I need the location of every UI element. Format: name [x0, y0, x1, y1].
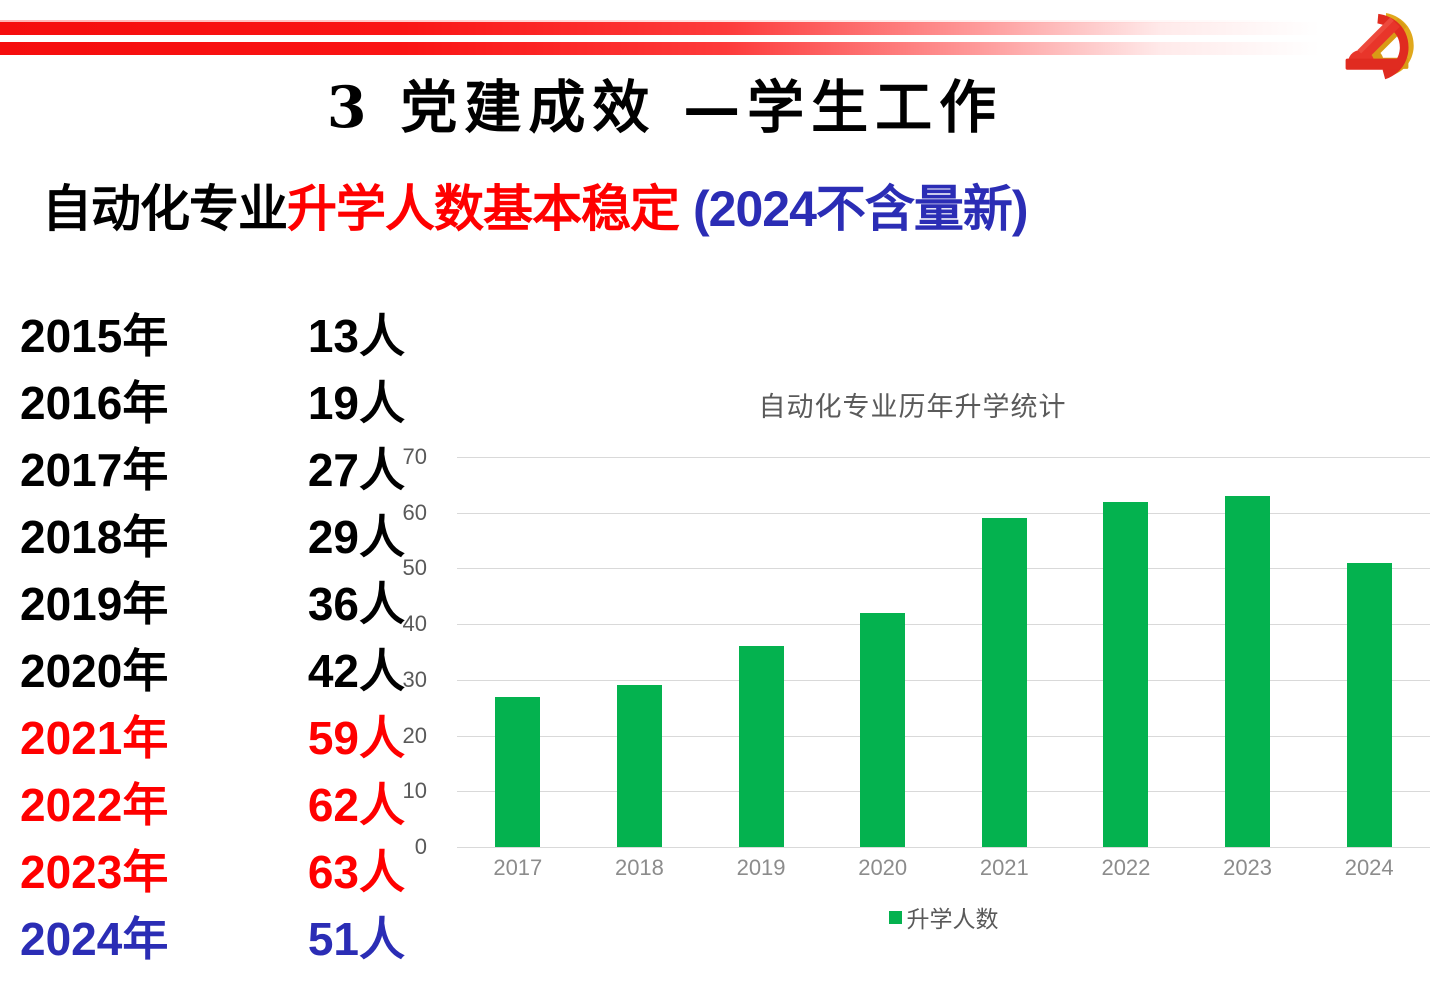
list-item: 2016年19人	[10, 367, 405, 434]
chart-bar[interactable]	[739, 646, 784, 847]
bar-slot	[1308, 457, 1430, 847]
bar-slot	[944, 457, 1066, 847]
y-axis-tick-label: 60	[375, 500, 427, 526]
x-axis-tick-label: 2019	[700, 855, 822, 881]
banner-red-stripe-upper	[0, 22, 1320, 35]
list-item: 2015年13人	[10, 300, 405, 367]
cpc-hammer-sickle-emblem-icon	[1337, 4, 1423, 96]
chart-bar[interactable]	[1347, 563, 1392, 847]
subtitle-segment-note: (2024不含量新)	[693, 181, 1028, 237]
list-item: 2022年62人	[10, 769, 405, 836]
legend-series-label: 升学人数	[907, 900, 999, 934]
chart-bar[interactable]	[860, 613, 905, 847]
list-item-year: 2021年	[10, 702, 247, 768]
x-axis-tick-label: 2020	[822, 855, 944, 881]
list-item: 2018年29人	[10, 501, 405, 568]
chart-bar[interactable]	[1225, 496, 1270, 847]
y-axis-tick-label: 40	[375, 611, 427, 637]
y-axis-tick-label: 20	[375, 723, 427, 749]
list-item: 2019年36人	[10, 568, 405, 635]
yearly-enrollment-list: 2015年13人2016年19人2017年27人2018年29人2019年36人…	[10, 300, 405, 970]
bar-slot	[700, 457, 822, 847]
list-item: 2020年42人	[10, 635, 405, 702]
chart-x-axis: 20172018201920202021202220232024	[457, 855, 1430, 881]
y-axis-tick-label: 70	[375, 444, 427, 470]
list-item-count: 51人	[247, 903, 405, 969]
list-item-year: 2016年	[10, 367, 247, 433]
x-axis-tick-label: 2022	[1065, 855, 1187, 881]
bar-slot	[822, 457, 944, 847]
list-item-year: 2019年	[10, 568, 247, 634]
legend-color-swatch-icon	[889, 911, 902, 924]
list-item-year: 2018年	[10, 501, 247, 567]
subtitle-segment-emphasis: 升学人数基本稳定	[287, 181, 679, 237]
list-item-count: 13人	[247, 300, 405, 366]
chart-bar[interactable]	[1103, 502, 1148, 847]
x-axis-tick-label: 2024	[1308, 855, 1430, 881]
y-axis-tick-label: 0	[375, 834, 427, 860]
list-item-year: 2024年	[10, 903, 247, 969]
enrollment-bar-chart: 自动化专业历年升学统计 706050403020100 201720182019…	[395, 385, 1430, 945]
y-axis-tick-label: 10	[375, 778, 427, 804]
chart-bars	[457, 457, 1430, 847]
bar-slot	[457, 457, 579, 847]
y-axis-tick-label: 50	[375, 555, 427, 581]
chart-legend: 升学人数	[457, 900, 1430, 934]
x-axis-tick-label: 2017	[457, 855, 579, 881]
page-title: 3 党建成效 —学生工作	[0, 78, 1330, 138]
x-axis-tick-label: 2023	[1187, 855, 1309, 881]
chart-plot-area: 706050403020100	[457, 457, 1430, 847]
chart-bar[interactable]	[617, 685, 662, 847]
bar-slot	[1187, 457, 1309, 847]
banner-red-stripe-lower	[0, 42, 1320, 55]
list-item-year: 2015年	[10, 300, 247, 366]
y-axis-tick-label: 30	[375, 667, 427, 693]
list-item-year: 2017年	[10, 434, 247, 500]
top-decorative-banner	[0, 0, 1435, 70]
x-axis-tick-label: 2018	[579, 855, 701, 881]
chart-title: 自动化专业历年升学统计	[395, 385, 1430, 424]
x-axis-tick-label: 2021	[944, 855, 1066, 881]
gridline	[457, 847, 1430, 848]
slide-subtitle: 自动化专业升学人数基本稳定(2024不含量新)	[42, 182, 1028, 237]
list-item-year: 2023年	[10, 836, 247, 902]
banner-white-gap-stripe	[0, 36, 1290, 41]
list-item: 2023年63人	[10, 836, 405, 903]
bar-slot	[1065, 457, 1187, 847]
subtitle-segment-major: 自动化专业	[42, 181, 287, 237]
list-item-year: 2022年	[10, 769, 247, 835]
chart-bar[interactable]	[982, 518, 1027, 847]
chart-bar[interactable]	[495, 697, 540, 847]
list-item: 2021年59人	[10, 702, 405, 769]
list-item-year: 2020年	[10, 635, 247, 701]
bar-slot	[579, 457, 701, 847]
list-item: 2024年51人	[10, 903, 405, 970]
list-item-count: 19人	[247, 367, 405, 433]
list-item: 2017年27人	[10, 434, 405, 501]
